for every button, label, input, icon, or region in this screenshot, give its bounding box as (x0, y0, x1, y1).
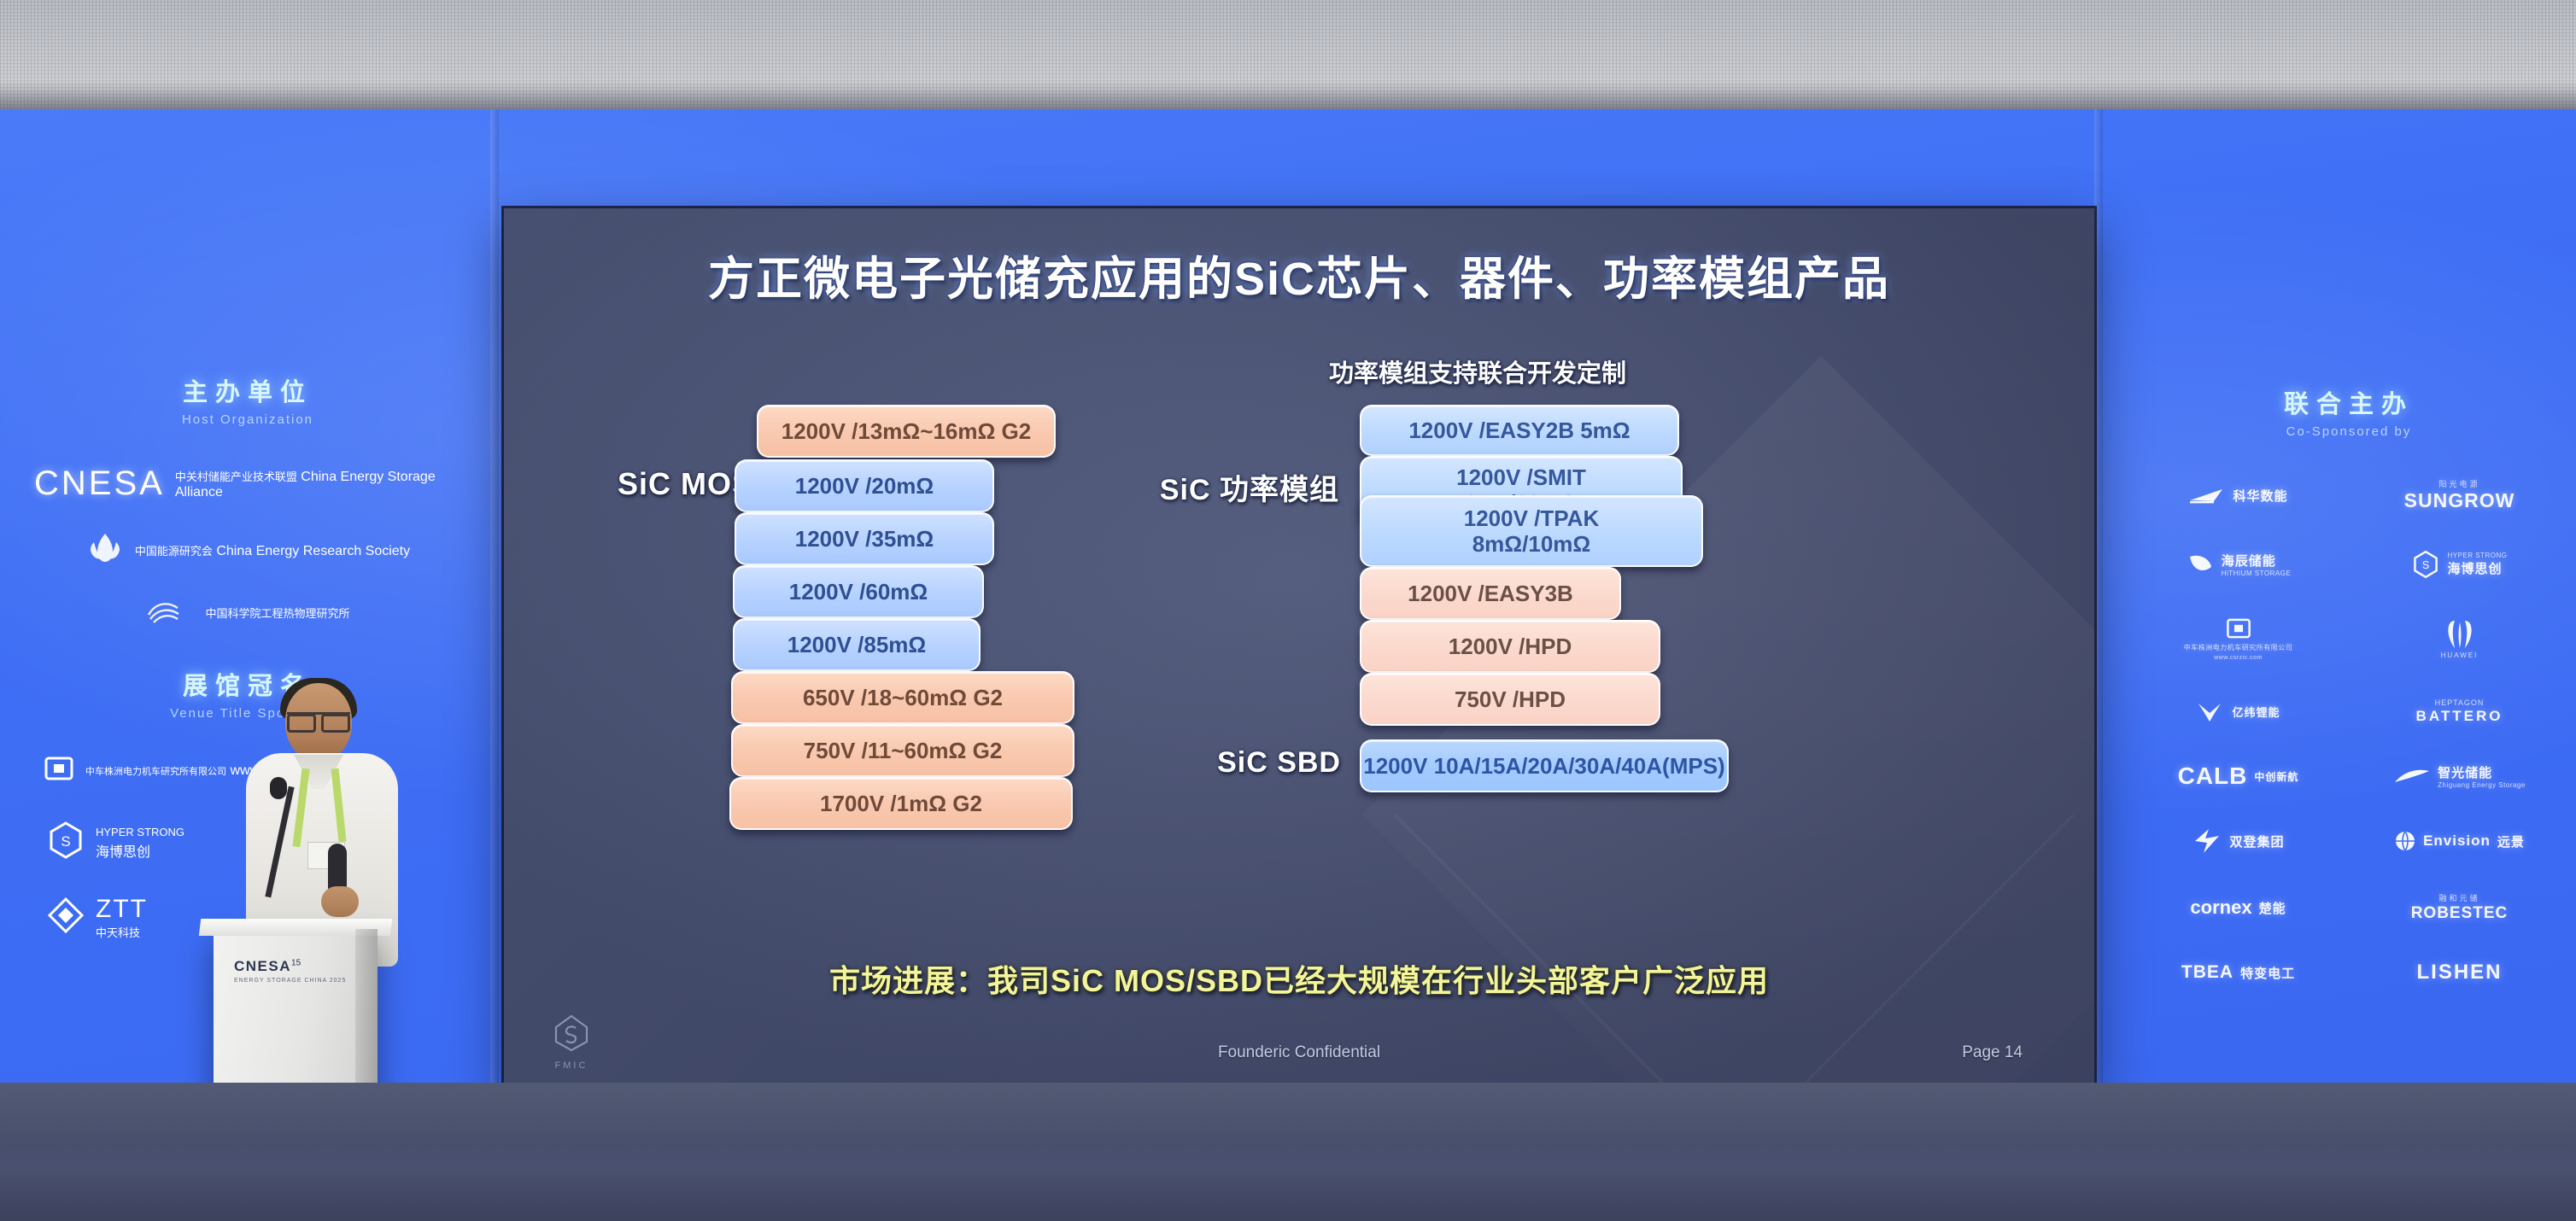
sungrow-name-cn: 阳光电源 (2404, 478, 2515, 489)
slide-footer-page: Page 14 (1962, 1043, 2023, 1062)
huawei-flower-icon (2437, 619, 2483, 650)
crrc-name-cn: 中车株洲电力机车研究所有限公司 (85, 767, 226, 777)
hyperstrong-name-cn-2: 海博思创 (2447, 562, 2502, 576)
sic-sbd-section-label: SiC SBD (1051, 746, 1341, 780)
module-box-5[interactable]: 750V /HPD (1360, 673, 1660, 726)
hithium-name-cn: 海辰储能 (2222, 554, 2276, 569)
co-sponsored-title-en: Co-Sponsored by (2135, 424, 2562, 439)
cers-name-en: China Energy Research Society (216, 544, 410, 558)
logo-cers: 中国能源研究会 China Energy Research Society (34, 529, 461, 572)
iet-cas-name-cn: 中国科学院工程热物理研究所 (205, 605, 349, 621)
ztt-wordmark: ZTT (96, 895, 148, 923)
module-box-3[interactable]: 1200V /EASY3B (1360, 567, 1621, 620)
speaker-hand (321, 886, 359, 917)
ztt-name-cn: 中天科技 (96, 924, 148, 940)
host-organization-title-en: Host Organization (34, 412, 461, 427)
conference-stage-scene: 主办单位 Host Organization CNESA 中关村储能产业技术联盟… (0, 0, 2576, 1221)
logo-hithium: 海辰储能 HiTHIUM STORAGE (2135, 552, 2341, 577)
hyperstrong-wordmark: HYPER STRONG (96, 826, 184, 838)
module-box-4[interactable]: 1200V /HPD (1360, 620, 1660, 673)
robestec-name-cn: 融和元储 (2438, 892, 2479, 903)
calb-wordmark: CALB (2178, 762, 2248, 790)
logo-tbea: TBEA 特变电工 (2135, 962, 2341, 983)
crrc-icon-2 (2225, 616, 2252, 640)
zhiguang-name-en: Zhiguang Energy Storage (2438, 781, 2526, 789)
tbea-wordmark: TBEA (2181, 962, 2234, 983)
envision-name-cn: 远景 (2497, 832, 2525, 850)
robestec-wordmark: ROBESTEC (2411, 904, 2509, 923)
crrc-url-2: www.csrzic.com (2214, 655, 2263, 661)
power-module-note: 功率模组支持联合开发定制 (1153, 353, 1802, 389)
module-box-0[interactable]: 1200V /EASY2B 5mΩ (1360, 405, 1679, 456)
hithium-leaf-icon (2186, 552, 2215, 577)
screen-right-pillar (2094, 109, 2103, 1083)
presentation-slide-screen[interactable]: 方正微电子光储充应用的SiC芯片、器件、功率模组产品 SiC MOS 1200V… (504, 208, 2094, 1088)
logo-robestec: 融和元储 ROBESTEC (2356, 892, 2562, 923)
kehua-name-cn: 科华数能 (2233, 487, 2287, 505)
wave-icon (145, 596, 195, 629)
logo-kehua: 科华数能 (2135, 487, 2341, 505)
podium-microphone-head (270, 777, 287, 799)
lishen-wordmark: LISHEN (2416, 961, 2502, 984)
cnesa-wordmark: CNESA (34, 464, 165, 503)
podium-logo: CNESA15 ENERGY STORAGE CHINA 2025 (234, 958, 346, 984)
sungrow-wordmark: SUNGROW (2404, 489, 2515, 511)
sic-mos-section-label: SiC MOS (523, 466, 753, 502)
host-organization-title-cn: 主办单位 (34, 372, 461, 408)
lotus-icon (85, 529, 125, 572)
battero-name-cn: HEPTAGON (2435, 698, 2485, 707)
mos-box-6[interactable]: 750V /11~60mΩ G2 (731, 724, 1074, 777)
podium-cnesa-superscript: 15 (291, 959, 301, 968)
cnesa-name-cn: 中关村储能产业技术联盟 (175, 470, 297, 483)
logo-calb: CALB 中创新航 (2135, 762, 2341, 790)
logo-lishen: LISHEN (2356, 961, 2562, 984)
logo-envision: Envision 远景 (2356, 830, 2562, 852)
eve-name-cn: 亿纬锂能 (2232, 704, 2280, 720)
host-organization-panel: 主办单位 Host Organization CNESA 中关村储能产业技术联盟… (34, 372, 461, 629)
podium-subtitle: ENERGY STORAGE CHINA 2025 (234, 978, 346, 984)
shuangdeng-name-cn: 双登集团 (2229, 832, 2284, 850)
slide-footer-confidential: Founderic Confidential (504, 1043, 2094, 1062)
screen-left-pillar (490, 109, 499, 1083)
logo-zhiguang: 智光储能 Zhiguang Energy Storage (2356, 763, 2562, 789)
logo-crrc-2: 中车株洲电力机车研究所有限公司 www.csrzic.com (2135, 616, 2341, 661)
hyperstrong-hex-icon-2: S (2411, 550, 2440, 579)
floor-gloss (0, 1083, 2576, 1221)
logo-shuangdeng: 双登集团 (2135, 827, 2341, 855)
crrc-name-cn-2: 中车株洲电力机车研究所有限公司 (2184, 643, 2293, 652)
hithium-name-en: HiTHIUM STORAGE (2222, 570, 2292, 577)
svg-text:S: S (61, 833, 70, 850)
co-sponsored-panel: 联合主办 Co-Sponsored by 科华数能 阳光电源 SUNGROW 海… (2135, 384, 2562, 984)
logo-huawei: HUAWEI (2356, 619, 2562, 659)
logo-cornex: cornex 楚能 (2135, 897, 2341, 919)
ztt-diamond-icon (46, 896, 85, 939)
eve-y-icon (2196, 701, 2225, 723)
zhiguang-name-cn: 智光储能 (2438, 766, 2492, 780)
kehua-swoosh-icon (2188, 487, 2226, 504)
mos-box-3[interactable]: 1200V /60mΩ (733, 565, 984, 618)
huawei-wordmark: HUAWEI (2441, 651, 2479, 659)
sbd-box-0[interactable]: 1200V 10A/15A/20A/30A/40A(MPS) (1360, 739, 1729, 792)
hyperstrong-name-cn: 海博思创 (96, 840, 184, 861)
battero-wordmark: BATTERO (2416, 708, 2503, 725)
tbea-name-cn: 特变电工 (2240, 964, 2295, 982)
market-progress-note: 市场进展：我司SiC MOS/SBD已经大规模在行业头部客户广泛应用 (504, 956, 2094, 1001)
logo-iet-cas: 中国科学院工程热物理研究所 (34, 596, 461, 629)
hyperstrong-hex-icon: S (46, 821, 85, 864)
envision-globe-icon (2394, 830, 2416, 852)
stage-floor (0, 1083, 2576, 1221)
mos-box-4[interactable]: 1200V /85mΩ (733, 618, 981, 671)
sic-power-module-section-label: SiC 功率模组 (1074, 466, 1339, 508)
logo-battero: HEPTAGON BATTERO (2356, 698, 2562, 725)
podium-cnesa-wordmark: CNESA (234, 958, 291, 974)
mos-box-7[interactable]: 1700V /1mΩ G2 (729, 777, 1073, 830)
hyperstrong-wordmark-2: HYPER STRONG (2447, 552, 2507, 559)
mos-box-0[interactable]: 1200V /13mΩ~16mΩ G2 (757, 405, 1056, 458)
mos-box-5[interactable]: 650V /18~60mΩ G2 (731, 671, 1074, 724)
cornex-wordmark: cornex (2190, 897, 2251, 919)
logo-eve: 亿纬锂能 (2135, 701, 2341, 723)
mos-box-1[interactable]: 1200V /20mΩ (735, 459, 994, 512)
module-box-2[interactable]: 1200V /TPAK 8mΩ/10mΩ (1360, 495, 1703, 567)
speaker-glasses (287, 712, 350, 727)
shuangdeng-bolt-icon (2192, 827, 2222, 855)
envision-wordmark: Envision (2423, 832, 2491, 850)
crrc-icon (43, 755, 75, 786)
co-sponsored-title-cn: 联合主办 (2135, 384, 2562, 420)
mos-box-2[interactable]: 1200V /35mΩ (735, 512, 994, 565)
svg-text:S: S (2422, 559, 2429, 571)
slide-title: 方正微电子光储充应用的SiC芯片、器件、功率模组产品 (504, 241, 2094, 308)
cers-name-cn: 中国能源研究会 (135, 545, 213, 558)
cornex-name-cn: 楚能 (2259, 899, 2286, 917)
calb-name-cn: 中创新航 (2254, 769, 2298, 784)
zhiguang-swoosh-icon (2393, 767, 2431, 786)
logo-hyperstrong-2: S HYPER STRONG 海博思创 (2356, 550, 2562, 579)
logo-cnesa: CNESA 中关村储能产业技术联盟 China Energy Storage A… (34, 464, 461, 503)
logo-sungrow: 阳光电源 SUNGROW (2356, 478, 2562, 512)
